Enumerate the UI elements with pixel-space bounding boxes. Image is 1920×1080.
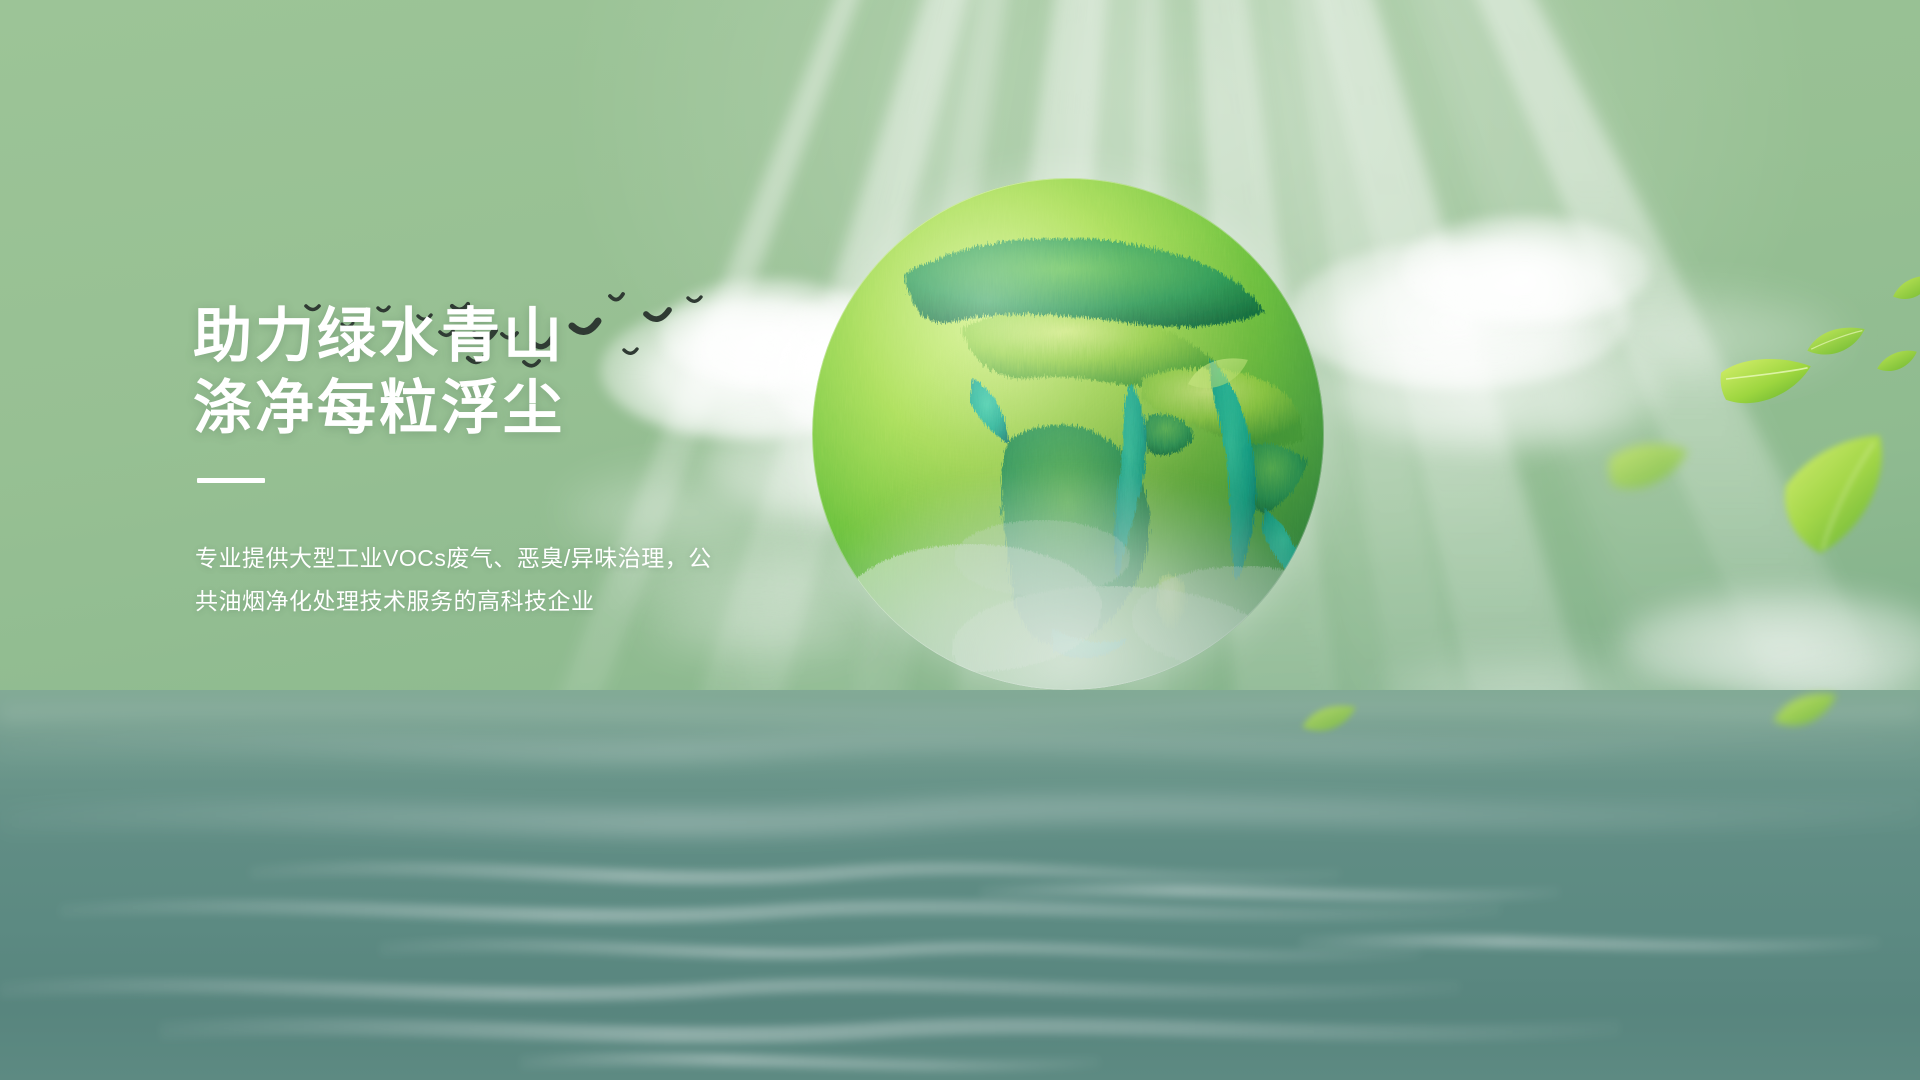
globe-sphere [812, 178, 1324, 690]
headline-divider [197, 478, 265, 483]
earth-globe [812, 178, 1324, 690]
globe-graphic [812, 178, 1324, 690]
eco-hero-banner: 助力绿水青山 涤净每粒浮尘 专业提供大型工业VOCs废气、恶臭/异味治理，公共油… [0, 0, 1920, 1080]
water-surface [0, 690, 1920, 1080]
hero-subtitle: 专业提供大型工业VOCs废气、恶臭/异味治理，公共油烟净化处理技术服务的高科技企… [195, 537, 735, 623]
water-ripples [0, 690, 1920, 1080]
headline-line-1: 助力绿水青山 [193, 300, 873, 372]
hero-copy: 助力绿水青山 涤净每粒浮尘 专业提供大型工业VOCs废气、恶臭/异味治理，公共油… [193, 300, 873, 623]
headline-line-2: 涤净每粒浮尘 [193, 372, 873, 444]
